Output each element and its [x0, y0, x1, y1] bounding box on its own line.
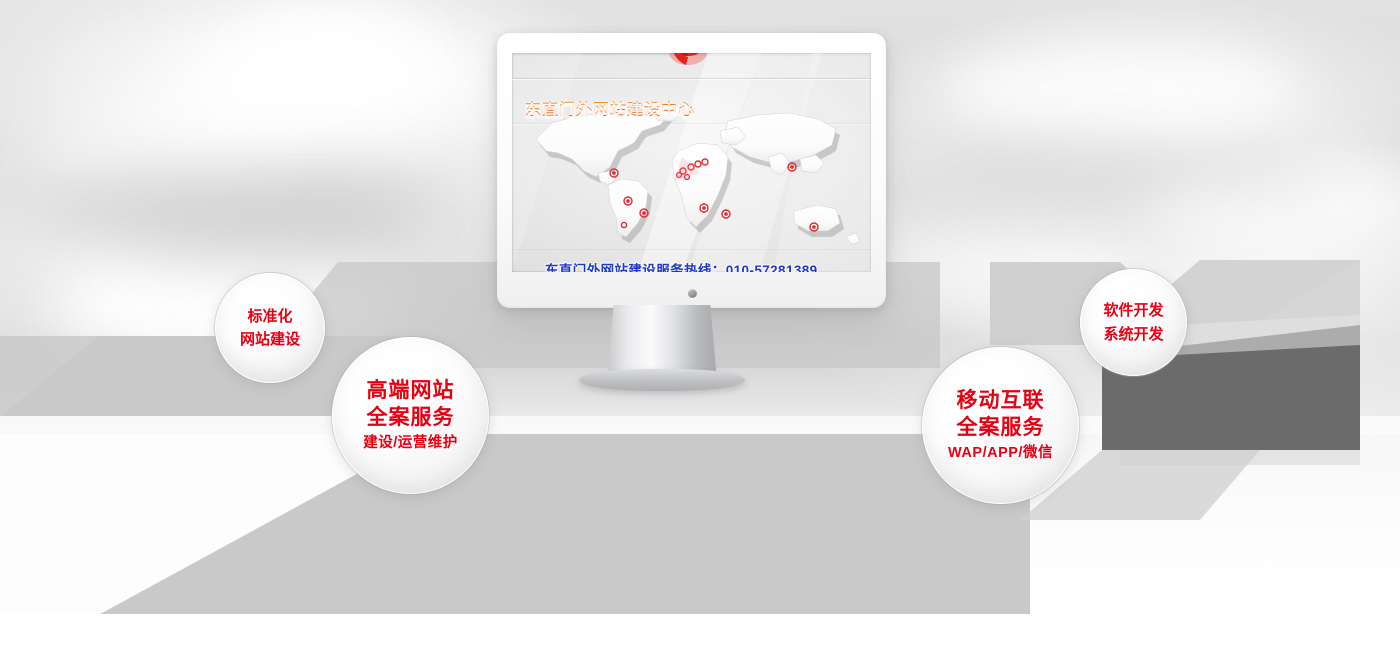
desktop-monitor: 东直门外网站建设中心 东直门外网站建设服务热线：010-57281389 [497, 33, 886, 308]
bubble-high-end-line1: 高端网站 [367, 378, 455, 405]
bubble-mobile[interactable]: 移动互联 全案服务 WAP/APP/微信 [922, 347, 1079, 504]
bubble-high-end-line2: 全案服务 [367, 405, 455, 432]
screen-divider-highlight [512, 79, 871, 80]
screen-hotline: 东直门外网站建设服务热线：010-57281389 [545, 259, 818, 272]
world-map [524, 101, 864, 251]
monitor-stand-base [579, 369, 745, 391]
cloud-blob [240, 10, 420, 80]
cloud-shadow [950, 140, 1330, 200]
bubble-mobile-line3: WAP/APP/微信 [948, 444, 1053, 463]
bubble-standard[interactable]: 标准化 网站建设 [215, 273, 325, 383]
cloud-blob [940, 40, 1300, 140]
map-pin-icon [664, 53, 708, 76]
bubble-software-line1: 软件开发 [1103, 301, 1163, 320]
monitor-indicator-dot [688, 289, 697, 298]
bubble-mobile-line1: 移动互联 [957, 388, 1045, 415]
bubble-standard-line1: 标准化 [247, 307, 292, 326]
bubble-standard-line2: 网站建设 [240, 330, 300, 349]
bubble-mobile-line2: 全案服务 [957, 415, 1045, 442]
hero-banner: 东直门外网站建设中心 东直门外网站建设服务热线：010-57281389 标准化… [0, 0, 1400, 651]
bubble-software-line2: 系统开发 [1103, 325, 1163, 344]
bubble-software[interactable]: 软件开发 系统开发 [1080, 269, 1187, 376]
screen-title: 东直门外网站建设中心 [525, 96, 695, 120]
bubble-high-end[interactable]: 高端网站 全案服务 建设/运营维护 [332, 337, 489, 494]
monitor-screen: 东直门外网站建设中心 东直门外网站建设服务热线：010-57281389 [512, 53, 871, 272]
bubble-high-end-line3: 建设/运营维护 [363, 434, 458, 453]
